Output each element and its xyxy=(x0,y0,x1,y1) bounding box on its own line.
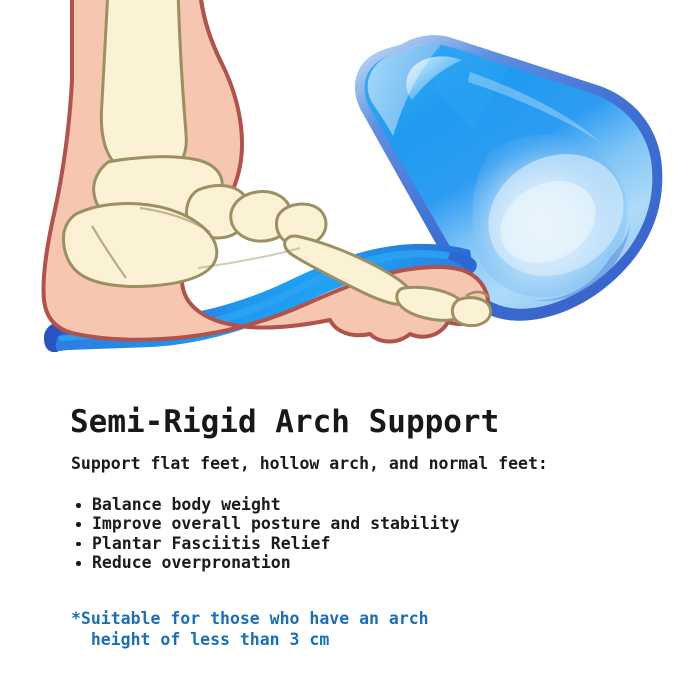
list-item: Reduce overpronation xyxy=(74,553,460,572)
product-info-page: Semi-Rigid Arch Support Support flat fee… xyxy=(0,0,700,700)
bullet-dot-icon xyxy=(76,522,81,527)
bullet-dot-icon xyxy=(76,542,81,547)
subtitle: Support flat feet, hollow arch, and norm… xyxy=(71,454,548,474)
list-item: Plantar Fasciitis Relief xyxy=(74,534,460,553)
list-item: Balance body weight xyxy=(74,495,460,514)
page-title: Semi-Rigid Arch Support xyxy=(70,405,499,439)
bullet-dot-icon xyxy=(76,503,81,508)
list-item: Improve overall posture and stability xyxy=(74,514,460,533)
list-item-label: Balance body weight xyxy=(92,495,281,514)
bullet-dot-icon xyxy=(76,561,81,566)
list-item-label: Improve overall posture and stability xyxy=(92,514,460,533)
foot-with-arch-support-illustration xyxy=(0,0,700,380)
benefits-list: Balance body weight Improve overall post… xyxy=(74,495,460,573)
suitability-note: *Suitable for those who have an arch hei… xyxy=(71,608,429,650)
list-item-label: Reduce overpronation xyxy=(92,553,291,572)
list-item-label: Plantar Fasciitis Relief xyxy=(92,534,330,553)
tibia-bone xyxy=(101,0,186,178)
product-text-block: Semi-Rigid Arch Support Support flat fee… xyxy=(0,380,700,700)
distal-phalanx-bone xyxy=(452,298,490,326)
